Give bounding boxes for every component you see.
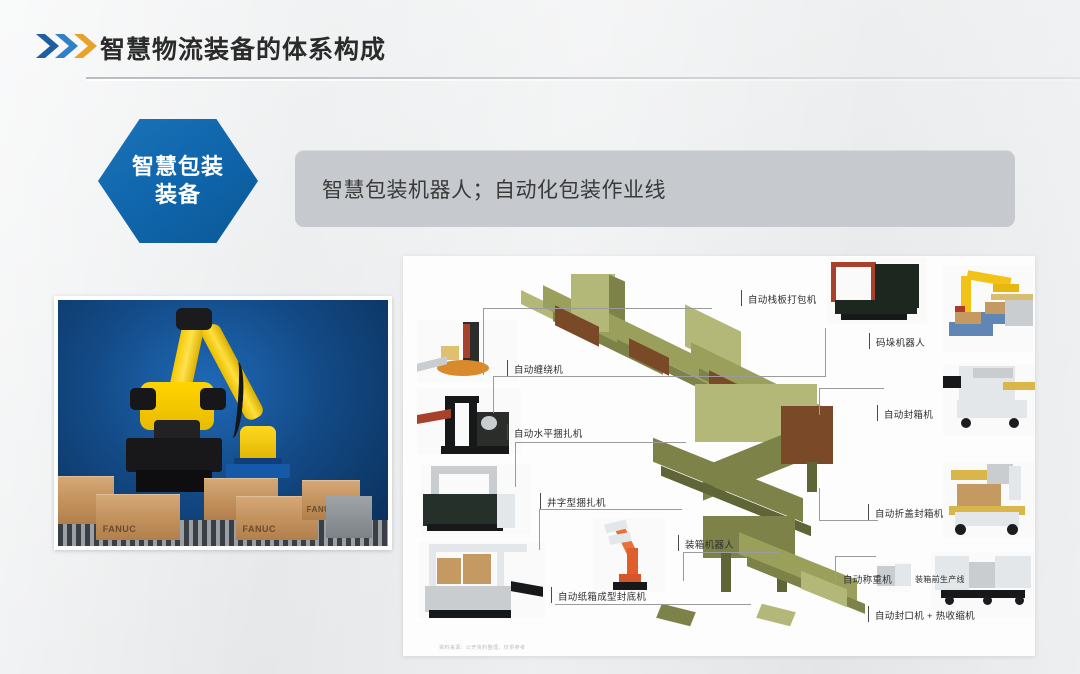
label-tick — [741, 290, 742, 306]
page-title: 智慧物流装备的体系构成 — [100, 30, 386, 66]
palletizing-robot-thumb — [943, 266, 1033, 352]
diagram-label-auto-stretch-wrapper: 自动缠绕机 — [514, 362, 563, 376]
diagram-label-auto-carton-former: 自动纸箱成型封底机 — [558, 589, 646, 603]
label-tick — [868, 504, 869, 520]
badge-label-line1: 智慧包装 — [132, 153, 224, 181]
diagram-label-auto-weighing-machine: 自动称重机 — [843, 572, 892, 586]
label-tick — [507, 424, 508, 440]
slide-root: 智慧物流装备的体系构成 智慧包装 装备 智慧包装机器人；自动化包装作业线 — [0, 0, 1080, 674]
grey-crate — [326, 496, 372, 538]
robot-joint-right — [200, 388, 226, 410]
caption-bar: 智慧包装机器人；自动化包装作业线 — [295, 150, 1015, 227]
caption-text: 智慧包装机器人；自动化包装作业线 — [295, 174, 666, 204]
category-badge-smart-packaging: 智慧包装 装备 — [98, 119, 258, 243]
box-brand-label: FANUC — [103, 524, 137, 534]
label-tick — [877, 405, 878, 421]
fanuc-robot-photo: FANUC FANUC FANUC — [54, 296, 392, 550]
leader-line — [683, 552, 780, 581]
diagram-label-auto-flap-folding-sealer: 自动折盖封箱机 — [875, 506, 944, 520]
carton-box: FANUC — [96, 494, 180, 540]
label-tick — [540, 493, 541, 509]
label-tick — [868, 606, 869, 622]
robot-base-lower — [136, 470, 212, 492]
robot-vacuum-gripper — [226, 464, 290, 478]
box-brand-label: FANUC — [243, 524, 277, 534]
diagram-label-auto-pallet-strapping: 自动栈板打包机 — [748, 292, 817, 306]
carton-former-thumb — [419, 542, 545, 618]
carton-sealer-thumb — [943, 364, 1035, 436]
diagram-label-auto-horizontal-strapper: 自动水平捆扎机 — [514, 426, 583, 440]
diagram-arrow — [756, 604, 796, 626]
diagram-label-auto-carton-sealer: 自动封箱机 — [884, 407, 933, 421]
header-divider-highlight — [86, 79, 1080, 81]
triple-chevron-right-icon — [34, 30, 100, 62]
robot-elbow-joint — [176, 308, 212, 330]
diagram-label-case-packing-robot: 装箱机器人 — [685, 537, 734, 551]
diagram-label-cross-strapping-machine: 井字型捆扎机 — [547, 495, 606, 509]
label-tick — [678, 535, 679, 551]
support-leg — [807, 462, 817, 492]
leader-line — [819, 388, 884, 415]
flap-folding-sealer-thumb — [943, 462, 1035, 538]
label-tick — [507, 360, 508, 376]
robot-base — [126, 438, 222, 472]
photo-content: FANUC FANUC FANUC — [58, 300, 388, 546]
leader-line — [819, 488, 878, 521]
robot-joint-left — [130, 388, 156, 410]
leader-line — [665, 328, 826, 377]
packaging-line-diagram-panel: 自动栈板打包机 码垛机器人 自动缠绕机 自动水平捆扎机 井字型捆扎机 自动封箱机… — [403, 256, 1035, 656]
diagram-label-auto-sealer-shrink-wrapper: 自动封口机 + 热收缩机 — [875, 608, 975, 622]
leader-line — [493, 376, 684, 413]
leader-line — [515, 442, 686, 487]
badge-label-line2: 装备 — [155, 181, 201, 209]
diagram-label-upstream-production-line: 装箱前生产线 — [915, 574, 965, 585]
leader-line — [555, 604, 751, 619]
diagram-footer-note: 资料来源：公开资料整理，仅供参考 — [439, 644, 525, 651]
diagram-label-palletizing-robot: 码垛机器人 — [876, 335, 925, 349]
leader-line — [539, 509, 682, 550]
pallet-strapping-machine-thumb — [827, 258, 927, 324]
label-tick — [551, 587, 552, 603]
label-tick — [869, 333, 870, 349]
